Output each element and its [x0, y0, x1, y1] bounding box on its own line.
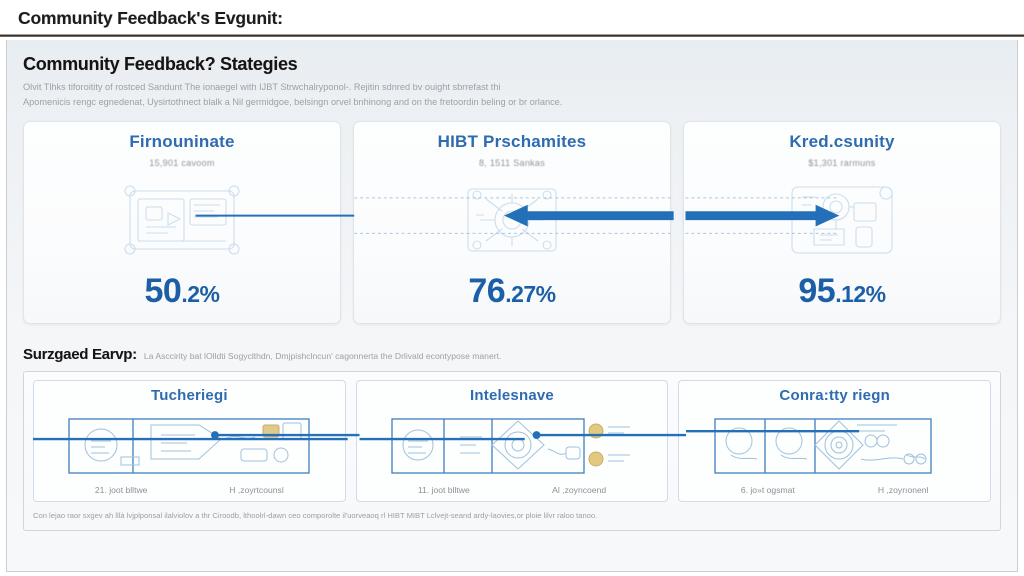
metric-card[interactable]: HIBT Prschamites 8, 1511 Sankas 76.27% — [353, 121, 671, 324]
diagram-panel-title: Intelesnave — [470, 387, 554, 404]
sketch-flow-diagram — [42, 406, 337, 485]
diagram-panel-row: Tucheriegi — [33, 380, 991, 502]
sketch-hex-diagram — [365, 406, 660, 485]
section-one-description: Olvit Tlhks tiforoitity of rostced Sandu… — [23, 80, 1001, 110]
metric-card-title: HIBT Prschamites — [438, 132, 587, 152]
metric-card-subtitle: 15,901 cavoom — [149, 158, 214, 168]
metric-value-decimal: .27% — [505, 281, 555, 308]
metric-card-title: Kred.csunity — [789, 132, 894, 152]
diagram-panel-labels: 11. joot blltwe Al ,zoyncoend — [365, 485, 660, 496]
metric-card[interactable]: Firnouninate 15,901 cavoom 50.2% — [23, 121, 341, 324]
diagram-panel[interactable]: Tucheriegi — [33, 380, 346, 502]
metric-card-subtitle: 8, 1511 Sankas — [479, 158, 545, 168]
section-two-header: Surzgaed Earvp: La Asccirity bat lOlldti… — [23, 346, 1001, 363]
diagram-label-left: 21. joot blltwe — [95, 485, 148, 495]
diagram-label-right: H ,zoyrtcounsl — [229, 485, 283, 495]
sketch-chain-diagram — [687, 406, 982, 485]
metric-value-integer: 76 — [468, 272, 505, 311]
metric-card-value: 95.12% — [798, 272, 885, 311]
diagram-panel-title: Conra:tty riegn — [779, 387, 890, 404]
sketch-node-icon — [362, 168, 662, 272]
title-bar-divider — [0, 34, 1024, 37]
section-two-description: La Asccirity bat lOlldti Sogyclthdn, Dmj… — [144, 351, 502, 361]
metric-value-integer: 95 — [798, 272, 835, 311]
metric-card-subtitle: $1,301 rarmuns — [808, 158, 875, 168]
title-bar: Community Feedback's Evgunit: — [0, 0, 1024, 37]
sketch-cluster-icon — [692, 168, 992, 272]
diagram-label-right: H ,zoyrıonenl — [878, 485, 929, 495]
metric-value-integer: 50 — [145, 272, 182, 311]
report-sheet: Community Feedback? Stategies Olvit Tlhk… — [6, 40, 1018, 572]
sketch-panel-icon — [32, 168, 332, 272]
metric-card-value: 50.2% — [145, 272, 220, 311]
diagram-panel-title: Tucheriegi — [151, 387, 228, 404]
section-one-description-line-1: Olvit Tlhks tiforoitity of rostced Sandu… — [23, 80, 1001, 95]
section-one-title: Community Feedback? Stategies — [23, 54, 1001, 75]
metric-card-row: Firnouninate 15,901 cavoom 50.2% — [23, 121, 1001, 324]
diagram-label-right: Al ,zoyncoend — [552, 485, 606, 495]
diagram-panel[interactable]: Conra:tty riegn — [678, 380, 991, 502]
section-two-title: Surzgaed Earvp: — [23, 346, 137, 363]
footer-note: Con lejao raor sxgev ah lllà lvjplponsal… — [33, 510, 991, 521]
metric-value-decimal: .12% — [835, 281, 885, 308]
diagram-panel-container: Tucheriegi — [23, 371, 1001, 531]
metric-card-value: 76.27% — [468, 272, 555, 311]
metric-card-title: Firnouninate — [129, 132, 234, 152]
diagram-panel-labels: 21. joot blltwe H ,zoyrtcounsl — [42, 485, 337, 496]
section-one-description-line-2: Apomenicis rengc egnedenat, Uysirtothnec… — [23, 95, 1001, 110]
metric-card[interactable]: Kred.csunity $1,301 rarmuns 95.12% — [683, 121, 1001, 324]
diagram-label-left: 11. joot blltwe — [418, 485, 470, 495]
diagram-label-left: 6. jo»t ogsmat — [741, 485, 795, 495]
diagram-panel[interactable]: Intelesnave — [356, 380, 669, 502]
diagram-panel-labels: 6. jo»t ogsmat H ,zoyrıonenl — [687, 485, 982, 496]
metric-value-decimal: .2% — [181, 281, 219, 308]
page-title: Community Feedback's Evgunit: — [18, 8, 283, 29]
